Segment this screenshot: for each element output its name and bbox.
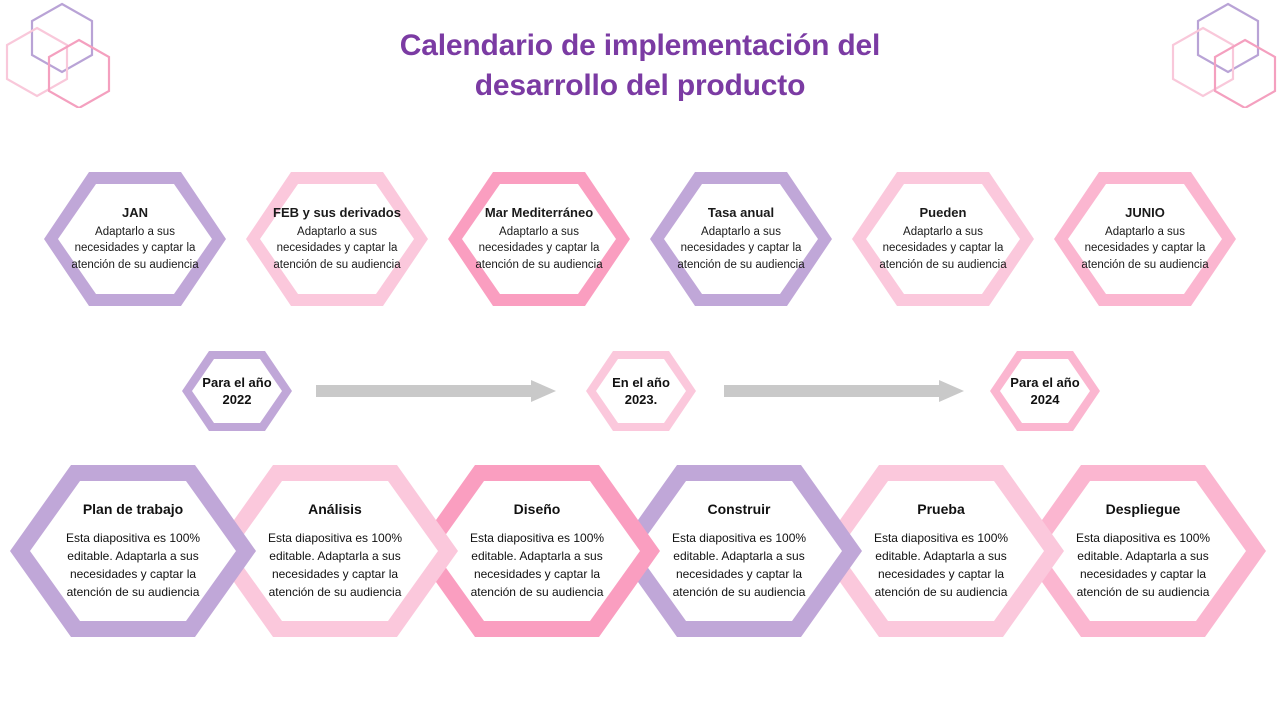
top-hex-junio[interactable]: JUNIO Adaptarlo a sus necesidades y capt… (1054, 172, 1236, 306)
year-hex-2022[interactable]: Para el año 2022 (182, 351, 292, 431)
top-hex-description: Adaptarlo a sus necesidades y captar la … (675, 224, 806, 273)
stage-hex-description: Esta diapositiva es 100% editable. Adapt… (249, 529, 421, 601)
top-hex-description: Adaptarlo a sus necesidades y captar la … (877, 224, 1008, 273)
top-hex-label: Tasa anual (675, 205, 806, 221)
stage-hex-description: Esta diapositiva es 100% editable. Adapt… (653, 529, 825, 601)
page-title-line-2: desarrollo del producto (340, 66, 940, 106)
hexagon-cluster-icon-top-left (2, 0, 122, 108)
slide-root: Calendario de implementación del desarro… (0, 0, 1280, 720)
stage-hex-description: Esta diapositiva es 100% editable. Adapt… (1057, 529, 1229, 601)
stage-hex-description: Esta diapositiva es 100% editable. Adapt… (855, 529, 1027, 601)
stage-hex-label: Despliegue (1057, 501, 1229, 519)
stage-hex-label: Prueba (855, 501, 1027, 519)
top-hex-tasa-anual[interactable]: Tasa anual Adaptarlo a sus necesidades y… (650, 172, 832, 306)
top-hex-label: JAN (69, 205, 200, 221)
stage-hex-label: Construir (653, 501, 825, 519)
top-hex-jan[interactable]: JAN Adaptarlo a sus necesidades y captar… (44, 172, 226, 306)
top-hex-label: FEB y sus derivados (271, 205, 402, 221)
hexagon-cluster-icon-top-right (1168, 0, 1280, 108)
top-hex-pueden[interactable]: Pueden Adaptarlo a sus necesidades y cap… (852, 172, 1034, 306)
page-title-line-1: Calendario de implementación del (340, 26, 940, 66)
stage-hex-label: Plan de trabajo (47, 501, 219, 519)
arrow-2023-to-2024 (724, 380, 964, 402)
stage-hex-label: Análisis (249, 501, 421, 519)
year-hex-2024[interactable]: Para el año 2024 (990, 351, 1100, 431)
year-hex-label: Para el año 2022 (196, 374, 277, 408)
top-hex-label: Mar Mediterráneo (473, 205, 604, 221)
top-hex-label: Pueden (877, 205, 1008, 221)
top-hex-description: Adaptarlo a sus necesidades y captar la … (271, 224, 402, 273)
page-title: Calendario de implementación del desarro… (340, 26, 940, 106)
stage-hex-label: Diseño (451, 501, 623, 519)
top-hex-description: Adaptarlo a sus necesidades y captar la … (473, 224, 604, 273)
stage-hex-description: Esta diapositiva es 100% editable. Adapt… (47, 529, 219, 601)
year-hex-label: En el año 2023. (600, 374, 681, 408)
top-hex-mar[interactable]: Mar Mediterráneo Adaptarlo a sus necesid… (448, 172, 630, 306)
arrow-2022-to-2023 (316, 380, 556, 402)
top-hex-description: Adaptarlo a sus necesidades y captar la … (69, 224, 200, 273)
top-hex-feb[interactable]: FEB y sus derivados Adaptarlo a sus nece… (246, 172, 428, 306)
top-hex-description: Adaptarlo a sus necesidades y captar la … (1079, 224, 1210, 273)
top-hex-label: JUNIO (1079, 205, 1210, 221)
stage-hex-plan-de-trabajo[interactable]: Plan de trabajo Esta diapositiva es 100%… (10, 465, 256, 637)
year-hex-label: Para el año 2024 (1004, 374, 1085, 408)
year-hex-2023[interactable]: En el año 2023. (586, 351, 696, 431)
stage-hex-description: Esta diapositiva es 100% editable. Adapt… (451, 529, 623, 601)
